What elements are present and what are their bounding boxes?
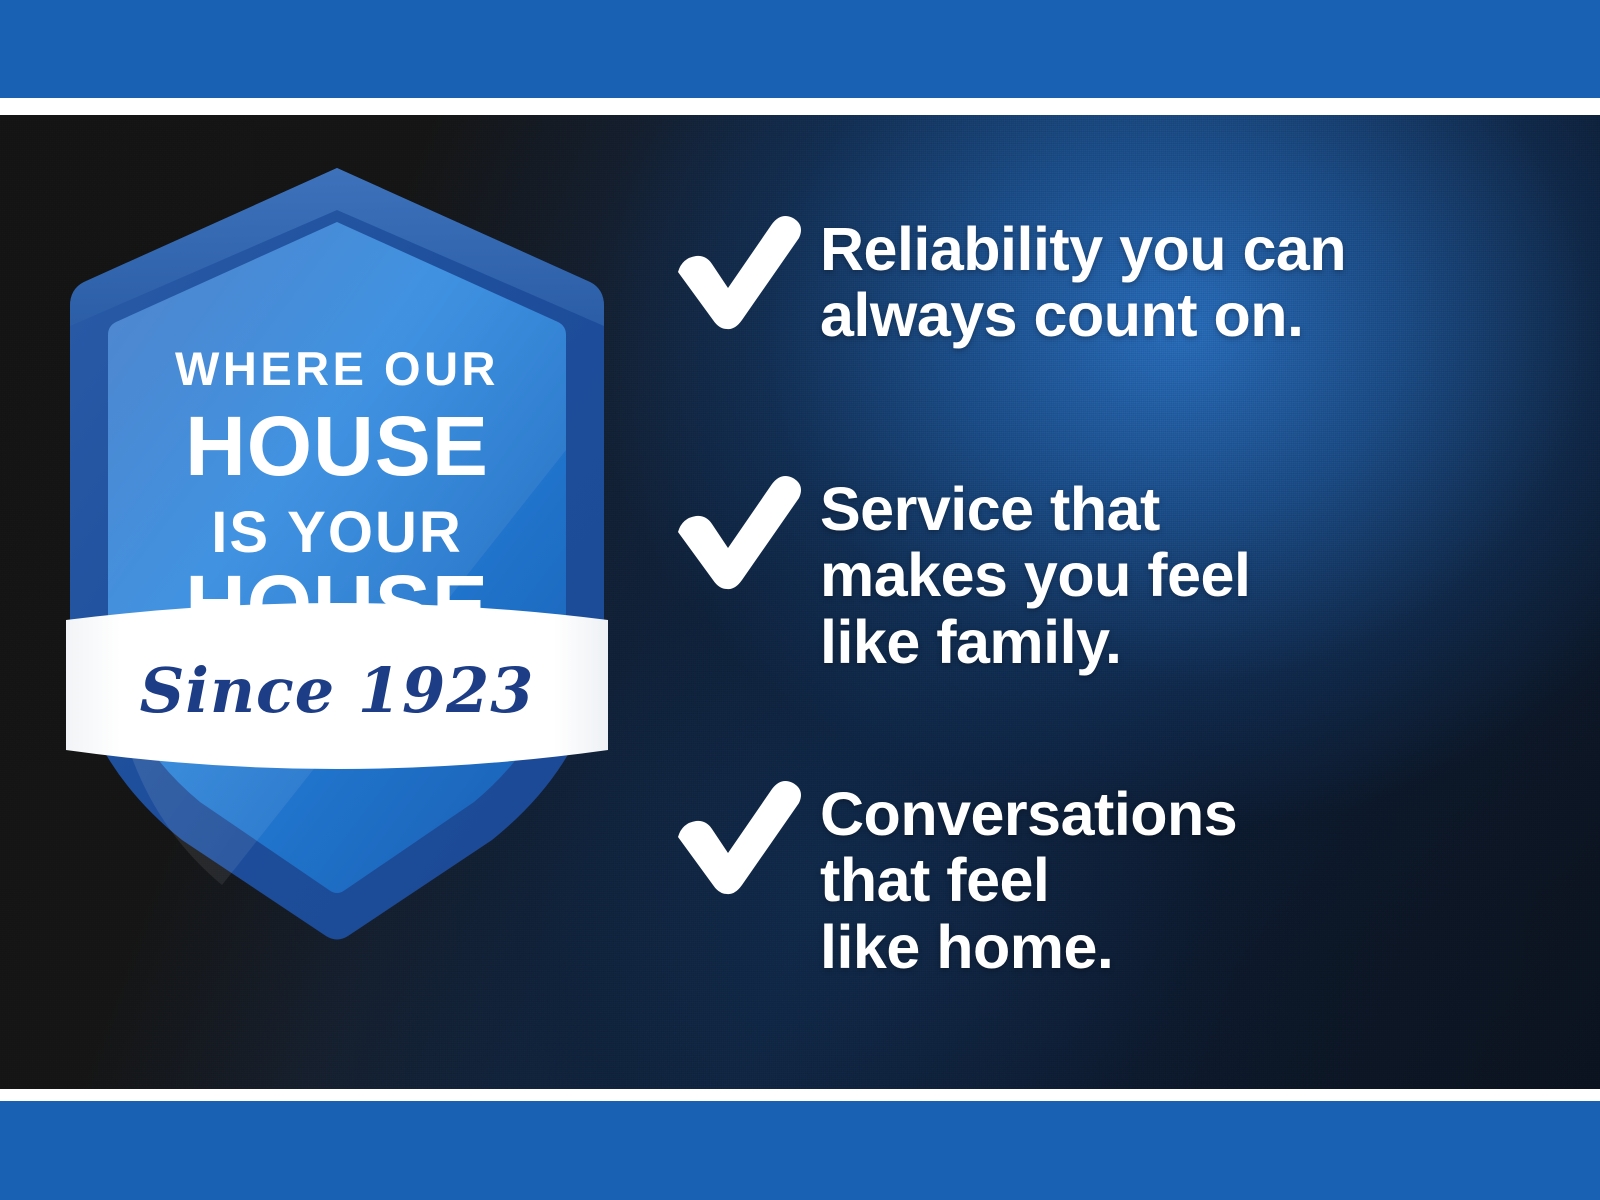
ribbon-label: Since 1923 [140,654,535,727]
promo-poster: WHERE OUR HOUSE IS YOUR HOUSE Since 1923… [0,0,1600,1200]
benefit-text: Service that makes you feel like family. [820,470,1250,675]
benefit-item: Reliability you can always count on. [660,210,1346,349]
checkmark-icon [660,470,810,590]
badge-line-1: WHERE OUR [175,342,499,395]
badge-line-3: IS YOUR [211,500,462,565]
shield-badge: WHERE OUR HOUSE IS YOUR HOUSE Since 1923 [62,150,612,940]
top-brand-bar [0,0,1600,98]
top-white-divider [0,98,1600,115]
badge-line-2: HOUSE [185,399,489,493]
benefit-item: Conversations that feel like home. [660,775,1237,980]
bottom-white-divider [0,1089,1600,1101]
benefit-text: Reliability you can always count on. [820,210,1346,349]
checkmark-icon [660,775,810,895]
checkmark-icon [660,210,810,330]
benefit-text: Conversations that feel like home. [820,775,1237,980]
benefits-list: Reliability you can always count on. Ser… [660,115,1600,1089]
benefit-item: Service that makes you feel like family. [660,470,1250,675]
bottom-brand-bar [0,1101,1600,1200]
